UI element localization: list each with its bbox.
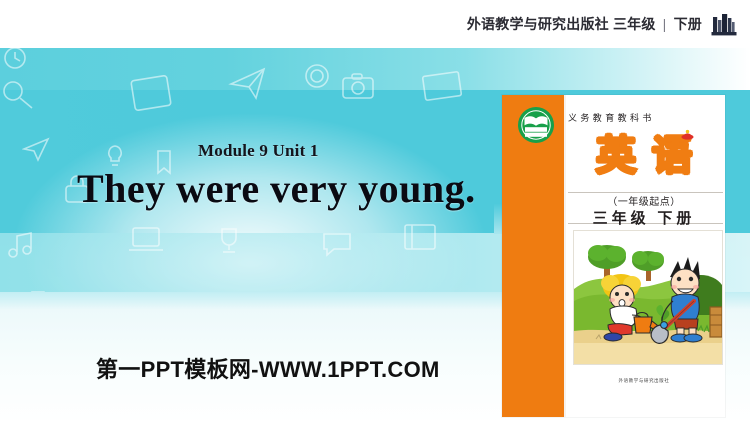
book-left-cyan-sliver	[494, 95, 502, 234]
slide-canvas: 外语教学与研究出版社 三年级 | 下册 Module 9 Unit 1 They…	[0, 0, 750, 422]
header-volume: 下册	[674, 16, 702, 32]
background-band-upper	[0, 48, 750, 90]
book-spine	[502, 95, 564, 417]
header-grade: 三年级	[613, 16, 656, 32]
book-grade-line: 三年级 下册	[568, 207, 720, 228]
book-publisher-footer: 外语教学与研究出版社	[568, 378, 720, 384]
header-bar: 外语教学与研究出版社 三年级 | 下册	[467, 10, 738, 38]
books-icon	[711, 11, 738, 37]
book-subtitle: （一年级起点）	[568, 193, 720, 208]
textbook-cover: 义务教育教科书 英 语 （一年级起点） 三年级 下册	[502, 95, 725, 417]
header-meta: 外语教学与研究出版社 三年级 | 下册	[467, 14, 702, 34]
book-series-line: 义务教育教科书	[568, 111, 720, 124]
book-title-chinese: 英 语	[568, 125, 720, 187]
red-hat-icon	[681, 129, 694, 140]
page-title: They were very young.	[77, 165, 476, 212]
book-title-char-1: 英	[596, 136, 636, 176]
module-unit-label: Module 9 Unit 1	[198, 141, 319, 161]
book-cover-illustration	[573, 230, 723, 365]
header-publisher: 外语教学与研究出版社	[467, 16, 609, 32]
book-title-char-2: 语	[652, 136, 692, 176]
header-separator: |	[663, 16, 667, 32]
moe-approval-logo	[518, 107, 554, 143]
watermark-text: 第一PPT模板网-WWW.1PPT.COM	[96, 352, 440, 384]
